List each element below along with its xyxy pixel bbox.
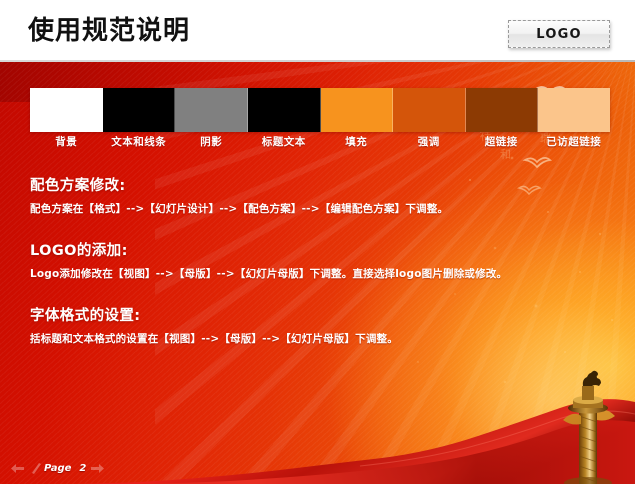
swatch-followed-hyperlink[interactable]	[538, 88, 610, 132]
swatch-text-and-lines[interactable]	[103, 88, 176, 132]
section-heading: 字体格式的设置:	[30, 304, 605, 325]
slide-footer: Page 2	[6, 460, 109, 476]
swatch-label-background: 背景	[30, 134, 103, 149]
page-number: 2	[79, 463, 86, 474]
slide-body-background: 年 福 祥 瑞 和	[0, 62, 635, 484]
color-swatch-strip	[30, 88, 610, 132]
swatch-label-accent: 强调	[393, 134, 466, 149]
swatch-label-fill: 填充	[320, 134, 393, 149]
section-body: Logo添加修改在【视图】-->【母版】-->【幻灯片母版】下调整。直接选择lo…	[30, 266, 605, 281]
section-font-format: 字体格式的设置: 括标题和文本格式的设置在【视图】-->【母版】-->【幻灯片母…	[30, 304, 605, 346]
section-body: 括标题和文本格式的设置在【视图】-->【母版】-->【幻灯片母版】下调整。	[30, 331, 605, 346]
color-swatch-labels: 背景 文本和线条 阴影 标题文本 填充 强调 超链接 已访超链接	[30, 134, 610, 149]
slide-canvas: 年 福 祥 瑞 和	[0, 0, 635, 484]
logo-placeholder[interactable]: LOGO	[508, 20, 610, 48]
logo-label: LOGO	[536, 27, 581, 42]
slide-header: 使用规范说明 LOGO	[0, 0, 635, 62]
swatch-accent[interactable]	[393, 88, 466, 132]
section-body: 配色方案在【格式】-->【幻灯片设计】-->【配色方案】-->【编辑配色方案】下…	[30, 201, 605, 216]
section-color-scheme: 配色方案修改: 配色方案在【格式】-->【幻灯片设计】-->【配色方案】-->【…	[30, 174, 605, 216]
swatch-title-text[interactable]	[248, 88, 321, 132]
slash-icon	[32, 463, 41, 474]
swatch-shadow[interactable]	[175, 88, 248, 132]
swatch-background[interactable]	[30, 88, 103, 132]
section-heading: 配色方案修改:	[30, 174, 605, 195]
swatch-label-text-and-lines: 文本和线条	[103, 134, 176, 149]
left-arrow-icon[interactable]	[11, 464, 24, 473]
swatch-fill[interactable]	[321, 88, 394, 132]
swatch-label-shadow: 阴影	[175, 134, 248, 149]
swatch-hyperlink[interactable]	[466, 88, 539, 132]
swatch-label-title-text: 标题文本	[248, 134, 321, 149]
page-title: 使用规范说明	[28, 14, 190, 48]
swatch-label-hyperlink: 超链接	[465, 134, 538, 149]
swatch-label-followed-hyperlink: 已访超链接	[538, 134, 611, 149]
right-arrow-icon[interactable]	[91, 464, 104, 473]
page-label: Page	[44, 463, 71, 474]
instruction-sections: 配色方案修改: 配色方案在【格式】-->【幻灯片设计】-->【配色方案】-->【…	[30, 174, 605, 369]
header-divider	[0, 60, 635, 62]
section-heading: LOGO的添加:	[30, 239, 605, 260]
section-logo: LOGO的添加: Logo添加修改在【视图】-->【母版】-->【幻灯片母版】下…	[30, 239, 605, 281]
